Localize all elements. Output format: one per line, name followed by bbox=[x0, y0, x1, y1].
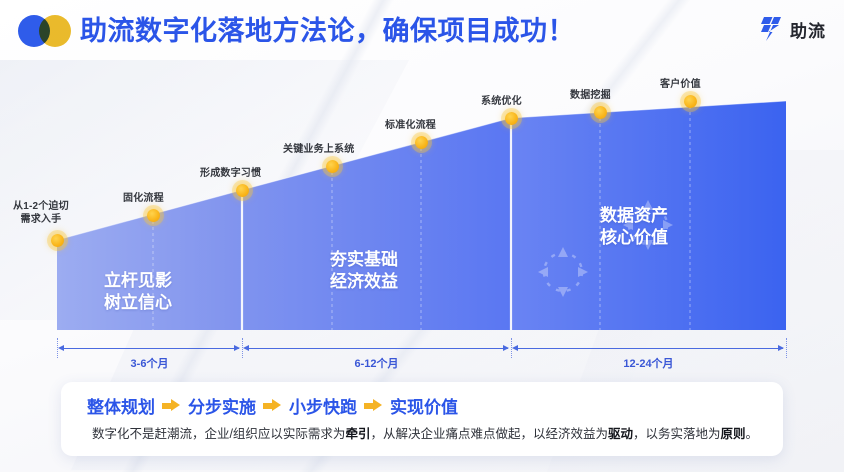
right-arrow-icon bbox=[263, 399, 282, 412]
milestone-label-2: 固化流程 bbox=[123, 189, 164, 204]
ramp-graphic bbox=[0, 62, 844, 380]
note-text: ，从解决企业痛点难点做起，以经济效益为 bbox=[370, 427, 608, 441]
lightning-bolt-icon bbox=[760, 16, 786, 42]
axis-label-stage-3: 12-24个月 bbox=[511, 355, 786, 371]
milestone-label-4: 关键业务上系统 bbox=[283, 140, 354, 155]
brand-name: 助流 bbox=[790, 17, 826, 42]
note-keyword: 牵引 bbox=[345, 427, 370, 441]
milestone-dot bbox=[505, 112, 518, 125]
page-title: 助流数字化落地方法论，确保项目成功！ bbox=[80, 10, 575, 52]
right-arrow-icon bbox=[364, 399, 383, 412]
milestone-dot bbox=[684, 95, 697, 108]
note-body-text: 数字化不是赶潮流，企业/组织应以实际需求为牵引，从解决企业痛点难点做起，以经济效… bbox=[75, 424, 775, 444]
stage-label-2: 夯实基础 经济效益 bbox=[330, 249, 398, 293]
stage-1-line-2: 树立信心 bbox=[104, 292, 172, 314]
axis-segment-2 bbox=[245, 348, 508, 349]
slide-header: 助流数字化落地方法论，确保项目成功！ 助流 bbox=[0, 0, 844, 62]
axis-arrow-right-3 bbox=[778, 345, 784, 351]
milestone-label-3: 形成数字习惯 bbox=[200, 164, 261, 179]
axis-arrow-right-1 bbox=[234, 345, 240, 351]
milestone-dot bbox=[147, 209, 160, 222]
milestone-dot bbox=[326, 160, 339, 173]
note-step-flow: 整体规划 分步实施 小步快跑 实现价值 bbox=[87, 393, 458, 418]
axis-label-stage-1: 3-6个月 bbox=[57, 355, 242, 371]
axis-label-stage-2: 6-12个月 bbox=[242, 355, 511, 371]
note-step-2: 分步实施 bbox=[188, 393, 256, 418]
logo-circle-gold bbox=[39, 15, 71, 47]
stage-3-line-1: 数据资产 bbox=[600, 205, 668, 227]
methodology-ramp-chart: 立杆见影 树立信心 夯实基础 经济效益 数据资产 核心价值 从1-2个迫切需求入… bbox=[0, 62, 844, 380]
note-step-3: 小步快跑 bbox=[289, 393, 357, 418]
milestone-label-6: 系统优化 bbox=[481, 92, 522, 107]
milestone-label-5: 标准化流程 bbox=[385, 116, 436, 131]
note-keyword: 原则 bbox=[721, 427, 746, 441]
axis-segment-3 bbox=[514, 348, 783, 349]
milestone-label-8: 客户价值 bbox=[660, 75, 701, 90]
milestone-dot bbox=[51, 234, 64, 247]
note-step-1: 整体规划 bbox=[87, 393, 155, 418]
stage-label-3: 数据资产 核心价值 bbox=[600, 205, 668, 249]
note-text: 。 bbox=[746, 427, 759, 441]
milestone-label-1: 从1-2个迫切需求入手 bbox=[13, 200, 69, 226]
axis-arrow-left-1 bbox=[58, 345, 64, 351]
milestone-dot bbox=[236, 184, 249, 197]
right-arrow-icon bbox=[162, 399, 181, 412]
stage-label-1: 立杆见影 树立信心 bbox=[104, 270, 172, 314]
two-overlapping-circles-logo-icon bbox=[18, 15, 74, 47]
note-step-4: 实现价值 bbox=[390, 393, 458, 418]
brand-lockup: 助流 bbox=[760, 16, 826, 42]
milestone-dot bbox=[415, 136, 428, 149]
axis-tick-end bbox=[786, 338, 787, 358]
note-text: 数字化不是赶潮流，企业/组织应以实际需求为 bbox=[92, 427, 345, 441]
principle-note-card: 整体规划 分步实施 小步快跑 实现价值 数字化不是赶潮流，企业/组织应以实际需求… bbox=[61, 382, 783, 456]
slide-canvas: 助流数字化落地方法论，确保项目成功！ 助流 bbox=[0, 0, 844, 472]
note-keyword: 驱动 bbox=[608, 427, 633, 441]
axis-arrow-left-2 bbox=[243, 345, 249, 351]
axis-segment-1 bbox=[60, 348, 239, 349]
axis-arrow-left-3 bbox=[512, 345, 518, 351]
stage-1-line-1: 立杆见影 bbox=[104, 270, 172, 292]
milestone-label-7: 数据挖掘 bbox=[570, 86, 611, 101]
milestone-dot bbox=[594, 106, 607, 119]
note-text: ，以务实落地为 bbox=[633, 427, 721, 441]
stage-2-line-2: 经济效益 bbox=[330, 271, 398, 293]
stage-3-line-2: 核心价值 bbox=[600, 227, 668, 249]
axis-arrow-right-2 bbox=[503, 345, 509, 351]
stage-2-line-1: 夯实基础 bbox=[330, 249, 398, 271]
